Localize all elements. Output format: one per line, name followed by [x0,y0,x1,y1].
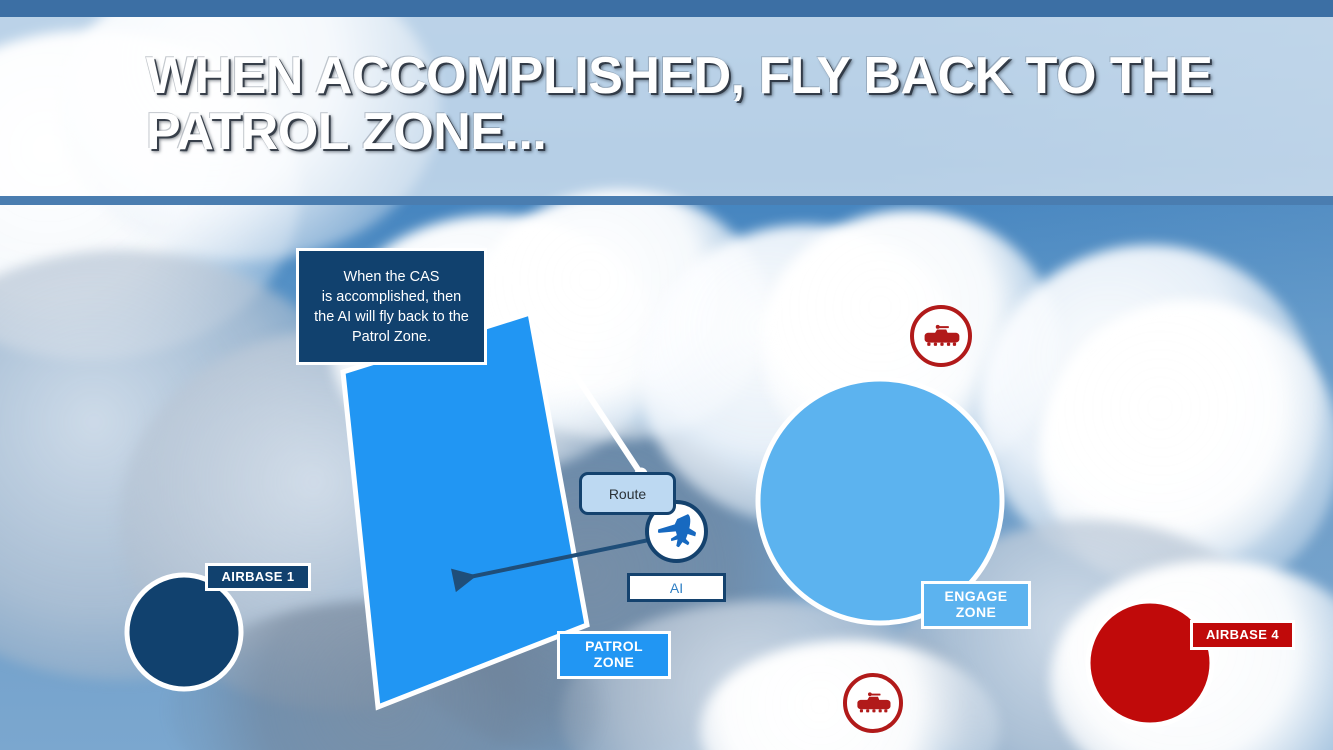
header-top-rule [0,0,1333,17]
airbase-1-label[interactable]: AIRBASE 1 [205,563,311,591]
engage-zone-label[interactable]: ENGAGE ZONE [921,581,1031,629]
enemy-tank-marker-south[interactable] [843,673,903,733]
patrol-zone-label[interactable]: PATROL ZONE [557,631,671,679]
header-bottom-rule [0,196,1333,205]
enemy-tank-marker-north[interactable] [910,305,972,367]
callout-note: When the CAS is accomplished, then the A… [296,248,487,365]
ai-label[interactable]: AI [627,573,726,602]
fighter-jet-icon [655,510,699,554]
tank-icon [920,315,962,357]
page-title: WHEN ACCOMPLISHED, FLY BACK TO THE PATRO… [146,48,1266,160]
airbase-4-label[interactable]: AIRBASE 4 [1190,620,1295,650]
route-label[interactable]: Route [579,472,676,515]
slide-canvas: WHEN ACCOMPLISHED, FLY BACK TO THE PATRO… [0,0,1333,750]
tank-icon [853,683,893,723]
